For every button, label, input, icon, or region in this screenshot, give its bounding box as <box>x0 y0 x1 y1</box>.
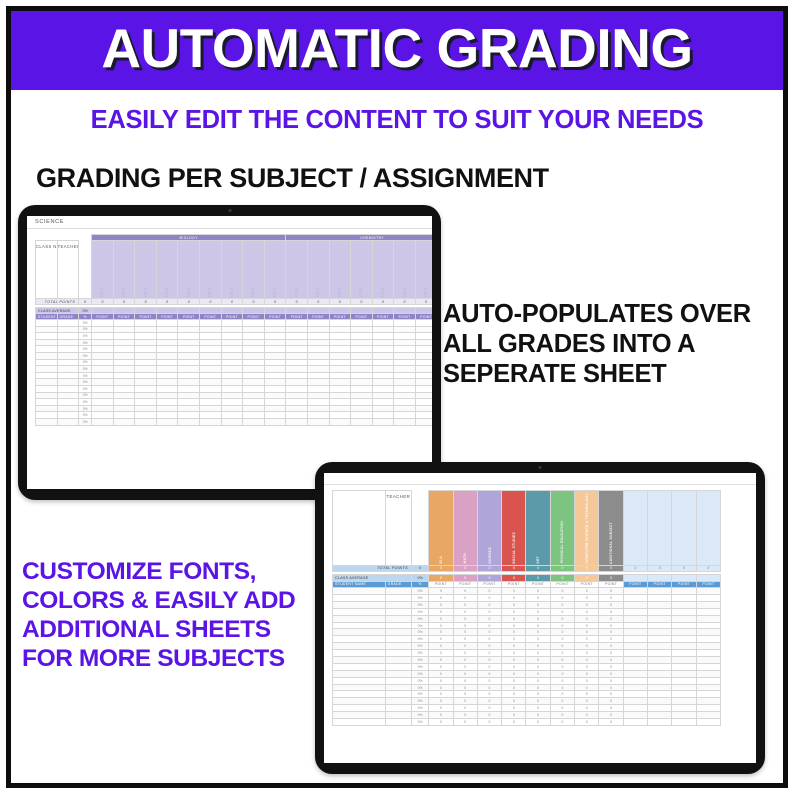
point-cell[interactable] <box>92 379 114 386</box>
subject-column-additional-subject[interactable]: ADDITIONAL SUBJECT <box>599 491 623 566</box>
point-cell[interactable]: 0 <box>429 684 453 691</box>
student-name-cell[interactable] <box>36 333 58 340</box>
point-cell[interactable] <box>264 399 286 406</box>
point-cell[interactable] <box>329 392 351 399</box>
point-cell-extra[interactable] <box>648 691 672 698</box>
point-cell-extra[interactable] <box>696 691 720 698</box>
point-cell[interactable]: 0 <box>599 677 623 684</box>
point-cell[interactable]: 0 <box>453 588 477 595</box>
point-cell[interactable]: 0 <box>429 691 453 698</box>
point-cell-extra[interactable] <box>696 588 720 595</box>
point-cell-extra[interactable] <box>623 650 647 657</box>
point-cell[interactable]: 0 <box>526 698 550 705</box>
percent-cell[interactable]: 0% <box>79 339 92 346</box>
student-name-cell[interactable] <box>333 705 386 712</box>
point-cell-extra[interactable] <box>623 677 647 684</box>
point-cell[interactable]: 0 <box>453 684 477 691</box>
point-cell[interactable]: 0 <box>429 595 453 602</box>
point-cell[interactable]: 0 <box>599 588 623 595</box>
point-cell[interactable]: 0 <box>477 595 501 602</box>
point-cell[interactable]: 0 <box>477 629 501 636</box>
point-cell-extra[interactable] <box>672 601 696 608</box>
point-cell[interactable] <box>113 405 135 412</box>
point-cell[interactable]: 0 <box>502 684 526 691</box>
point-cell[interactable] <box>307 412 329 419</box>
point-cell-extra[interactable] <box>623 636 647 643</box>
assignment-title-cell[interactable]: TITLE <box>135 241 157 299</box>
subject-column-ela[interactable]: ELA <box>429 491 453 566</box>
point-cell[interactable]: 0 <box>477 663 501 670</box>
point-cell-extra[interactable] <box>672 588 696 595</box>
point-cell-extra[interactable] <box>672 719 696 726</box>
point-cell-extra[interactable] <box>623 705 647 712</box>
point-cell[interactable]: 0 <box>526 663 550 670</box>
point-cell[interactable]: 0 <box>575 636 599 643</box>
point-cell[interactable]: 0 <box>599 691 623 698</box>
point-cell[interactable]: 0 <box>575 698 599 705</box>
point-cell[interactable] <box>92 366 114 373</box>
percent-cell[interactable]: 0% <box>412 629 429 636</box>
point-cell[interactable]: 0 <box>502 712 526 719</box>
point-cell[interactable] <box>415 392 432 399</box>
point-cell[interactable] <box>394 372 416 379</box>
point-cell[interactable]: 0 <box>453 712 477 719</box>
point-cell[interactable]: 0 <box>453 657 477 664</box>
point-cell[interactable] <box>135 379 157 386</box>
subject-column-computer-science-technology[interactable]: COMPUTER SCIENCE & TECHNOLOGY <box>575 491 599 566</box>
point-cell[interactable]: 0 <box>575 705 599 712</box>
point-cell-extra[interactable] <box>623 608 647 615</box>
point-cell[interactable]: 0 <box>502 595 526 602</box>
student-name-cell[interactable] <box>333 636 386 643</box>
student-name-cell[interactable] <box>36 418 58 425</box>
extra-subject-column[interactable] <box>696 491 720 566</box>
point-cell-extra[interactable] <box>696 608 720 615</box>
point-cell-extra[interactable] <box>648 650 672 657</box>
percent-cell[interactable]: 0% <box>412 622 429 629</box>
point-cell[interactable] <box>221 366 243 373</box>
student-name-cell[interactable] <box>333 608 386 615</box>
point-cell[interactable] <box>286 392 308 399</box>
point-cell-extra[interactable] <box>623 684 647 691</box>
grade-cell[interactable] <box>57 352 79 359</box>
point-cell[interactable]: 0 <box>502 650 526 657</box>
point-cell[interactable] <box>92 346 114 353</box>
point-cell[interactable] <box>351 405 373 412</box>
student-name-cell[interactable] <box>36 359 58 366</box>
point-cell[interactable]: 0 <box>575 643 599 650</box>
point-cell[interactable]: 0 <box>550 622 574 629</box>
point-cell[interactable]: 0 <box>526 643 550 650</box>
grade-cell[interactable] <box>385 657 411 664</box>
point-cell-extra[interactable] <box>696 657 720 664</box>
point-cell-extra[interactable] <box>696 663 720 670</box>
point-cell-extra[interactable] <box>672 615 696 622</box>
point-cell[interactable]: 0 <box>550 636 574 643</box>
point-cell[interactable]: 0 <box>599 670 623 677</box>
point-cell[interactable] <box>307 372 329 379</box>
point-cell[interactable] <box>113 385 135 392</box>
percent-cell[interactable]: 0% <box>412 712 429 719</box>
point-cell[interactable] <box>329 385 351 392</box>
percent-cell[interactable]: 0% <box>412 663 429 670</box>
point-cell[interactable]: 0 <box>575 670 599 677</box>
point-cell[interactable]: 0 <box>550 650 574 657</box>
point-cell[interactable] <box>394 418 416 425</box>
point-cell[interactable] <box>351 366 373 373</box>
point-cell[interactable] <box>243 326 265 333</box>
point-cell[interactable]: 0 <box>599 622 623 629</box>
grade-cell[interactable] <box>57 405 79 412</box>
point-cell[interactable]: 0 <box>599 636 623 643</box>
point-cell[interactable]: 0 <box>599 643 623 650</box>
point-cell[interactable]: 0 <box>599 608 623 615</box>
point-cell[interactable]: 0 <box>429 705 453 712</box>
extra-subject-column[interactable] <box>672 491 696 566</box>
point-cell[interactable] <box>286 418 308 425</box>
point-cell[interactable] <box>264 359 286 366</box>
point-cell[interactable] <box>286 326 308 333</box>
point-cell-extra[interactable] <box>648 670 672 677</box>
point-cell[interactable]: 0 <box>599 657 623 664</box>
point-cell[interactable]: 0 <box>550 588 574 595</box>
point-cell-extra[interactable] <box>648 698 672 705</box>
point-cell-extra[interactable] <box>623 601 647 608</box>
point-cell[interactable] <box>372 399 394 406</box>
point-cell[interactable] <box>135 405 157 412</box>
point-cell[interactable] <box>178 405 200 412</box>
student-name-cell[interactable] <box>333 615 386 622</box>
point-cell[interactable] <box>264 412 286 419</box>
point-cell[interactable] <box>135 418 157 425</box>
point-cell[interactable]: 0 <box>477 698 501 705</box>
point-cell[interactable] <box>221 326 243 333</box>
point-cell[interactable]: 0 <box>429 643 453 650</box>
point-cell[interactable] <box>156 352 178 359</box>
point-cell[interactable] <box>286 346 308 353</box>
point-cell[interactable] <box>113 392 135 399</box>
student-name-cell[interactable] <box>333 601 386 608</box>
point-cell[interactable]: 0 <box>502 691 526 698</box>
point-cell[interactable]: 0 <box>477 684 501 691</box>
point-cell[interactable]: 0 <box>550 629 574 636</box>
percent-cell[interactable]: 0% <box>412 698 429 705</box>
point-cell-extra[interactable] <box>696 622 720 629</box>
point-cell[interactable] <box>264 333 286 340</box>
point-cell[interactable] <box>221 372 243 379</box>
point-cell-extra[interactable] <box>623 588 647 595</box>
point-cell[interactable] <box>351 339 373 346</box>
student-name-cell[interactable] <box>333 684 386 691</box>
point-cell[interactable] <box>372 352 394 359</box>
point-cell[interactable] <box>156 326 178 333</box>
point-cell[interactable] <box>264 379 286 386</box>
point-cell[interactable] <box>156 359 178 366</box>
point-cell[interactable]: 0 <box>477 670 501 677</box>
point-cell[interactable] <box>243 385 265 392</box>
point-cell[interactable] <box>178 352 200 359</box>
point-cell[interactable] <box>264 372 286 379</box>
point-cell[interactable] <box>329 418 351 425</box>
point-cell[interactable]: 0 <box>575 588 599 595</box>
percent-cell[interactable]: 0% <box>412 650 429 657</box>
point-cell[interactable]: 0 <box>575 601 599 608</box>
grade-cell[interactable] <box>57 320 79 327</box>
point-cell[interactable]: 0 <box>550 615 574 622</box>
point-cell[interactable] <box>156 333 178 340</box>
point-cell[interactable] <box>92 372 114 379</box>
student-name-cell[interactable] <box>333 677 386 684</box>
point-cell-extra[interactable] <box>648 636 672 643</box>
point-cell[interactable] <box>113 339 135 346</box>
student-name-cell[interactable] <box>333 657 386 664</box>
point-cell-extra[interactable] <box>696 595 720 602</box>
point-cell[interactable]: 0 <box>429 657 453 664</box>
point-cell[interactable] <box>135 366 157 373</box>
point-cell[interactable]: 0 <box>526 615 550 622</box>
point-cell-extra[interactable] <box>672 705 696 712</box>
point-cell[interactable]: 0 <box>550 663 574 670</box>
point-cell[interactable] <box>394 385 416 392</box>
point-cell[interactable] <box>307 399 329 406</box>
point-cell-extra[interactable] <box>648 657 672 664</box>
point-cell-extra[interactable] <box>696 601 720 608</box>
point-cell[interactable] <box>372 418 394 425</box>
point-cell[interactable]: 0 <box>526 712 550 719</box>
point-cell[interactable]: 0 <box>502 705 526 712</box>
point-cell[interactable] <box>351 326 373 333</box>
percent-cell[interactable]: 0% <box>79 333 92 340</box>
point-cell[interactable]: 0 <box>453 677 477 684</box>
point-cell[interactable] <box>92 399 114 406</box>
student-name-cell[interactable] <box>333 650 386 657</box>
point-cell[interactable] <box>372 320 394 327</box>
point-cell[interactable] <box>156 385 178 392</box>
assignment-title-cell[interactable]: TITLE <box>351 241 373 299</box>
point-cell[interactable] <box>178 339 200 346</box>
student-name-cell[interactable] <box>333 712 386 719</box>
student-name-cell[interactable] <box>333 595 386 602</box>
point-cell[interactable] <box>286 379 308 386</box>
point-cell[interactable]: 0 <box>477 601 501 608</box>
point-cell[interactable] <box>135 320 157 327</box>
point-cell[interactable]: 0 <box>453 670 477 677</box>
percent-cell[interactable]: 0% <box>412 595 429 602</box>
point-cell[interactable]: 0 <box>502 719 526 726</box>
point-cell[interactable]: 0 <box>599 595 623 602</box>
percent-cell[interactable]: 0% <box>79 346 92 353</box>
point-cell[interactable] <box>200 333 222 340</box>
point-cell[interactable] <box>135 412 157 419</box>
point-cell[interactable] <box>415 352 432 359</box>
assignment-title-cell[interactable]: TITLE <box>264 241 286 299</box>
grade-cell[interactable] <box>385 608 411 615</box>
assignment-title-cell[interactable]: TITLE <box>113 241 135 299</box>
point-cell[interactable]: 0 <box>526 670 550 677</box>
point-cell[interactable]: 0 <box>550 595 574 602</box>
student-name-cell[interactable] <box>36 392 58 399</box>
point-cell[interactable]: 0 <box>502 670 526 677</box>
grade-cell[interactable] <box>385 712 411 719</box>
student-name-cell[interactable] <box>333 719 386 726</box>
point-cell[interactable] <box>351 372 373 379</box>
point-cell[interactable] <box>329 412 351 419</box>
point-cell[interactable] <box>415 399 432 406</box>
point-cell-extra[interactable] <box>696 650 720 657</box>
point-cell[interactable] <box>200 418 222 425</box>
point-cell[interactable]: 0 <box>575 629 599 636</box>
point-cell-extra[interactable] <box>672 677 696 684</box>
point-cell-extra[interactable] <box>648 601 672 608</box>
point-cell[interactable] <box>156 379 178 386</box>
point-cell[interactable]: 0 <box>575 663 599 670</box>
point-cell[interactable] <box>113 418 135 425</box>
point-cell[interactable] <box>372 372 394 379</box>
point-cell[interactable] <box>307 405 329 412</box>
point-cell-extra[interactable] <box>696 719 720 726</box>
point-cell[interactable] <box>351 399 373 406</box>
percent-cell[interactable]: 0% <box>79 385 92 392</box>
point-cell[interactable] <box>178 359 200 366</box>
assignment-title-cell[interactable]: TITLE <box>394 241 416 299</box>
point-cell[interactable] <box>200 412 222 419</box>
point-cell[interactable] <box>200 372 222 379</box>
point-cell-extra[interactable] <box>672 595 696 602</box>
point-cell-extra[interactable] <box>672 663 696 670</box>
assignment-title-cell[interactable]: TITLE <box>415 241 432 299</box>
point-cell[interactable]: 0 <box>502 615 526 622</box>
point-cell-extra[interactable] <box>648 588 672 595</box>
grade-cell[interactable] <box>385 629 411 636</box>
assignment-title-cell[interactable]: TITLE <box>329 241 351 299</box>
point-cell-extra[interactable] <box>623 691 647 698</box>
point-cell[interactable]: 0 <box>575 650 599 657</box>
percent-cell[interactable]: 0% <box>79 359 92 366</box>
point-cell[interactable] <box>221 418 243 425</box>
grade-cell[interactable] <box>385 670 411 677</box>
point-cell[interactable] <box>200 366 222 373</box>
point-cell[interactable] <box>243 366 265 373</box>
point-cell[interactable]: 0 <box>599 629 623 636</box>
point-cell[interactable] <box>221 392 243 399</box>
point-cell[interactable]: 0 <box>477 643 501 650</box>
point-cell[interactable]: 0 <box>429 719 453 726</box>
point-cell[interactable]: 0 <box>526 601 550 608</box>
percent-cell[interactable]: 0% <box>412 719 429 726</box>
point-cell[interactable]: 0 <box>575 712 599 719</box>
percent-cell[interactable]: 0% <box>412 691 429 698</box>
point-cell[interactable]: 0 <box>453 663 477 670</box>
point-cell[interactable] <box>92 418 114 425</box>
point-cell[interactable] <box>92 412 114 419</box>
point-cell[interactable] <box>351 352 373 359</box>
extra-subject-column[interactable] <box>623 491 647 566</box>
point-cell[interactable] <box>351 379 373 386</box>
point-cell[interactable] <box>113 346 135 353</box>
point-cell[interactable] <box>200 405 222 412</box>
point-cell[interactable] <box>221 385 243 392</box>
point-cell[interactable] <box>394 339 416 346</box>
point-cell[interactable]: 0 <box>502 608 526 615</box>
percent-cell[interactable]: 0% <box>412 636 429 643</box>
subject-column-physical-education[interactable]: PHYSICAL EDUCATION <box>550 491 574 566</box>
point-cell[interactable]: 0 <box>526 608 550 615</box>
percent-cell[interactable]: 0% <box>79 352 92 359</box>
percent-cell[interactable]: 0% <box>79 405 92 412</box>
point-cell[interactable] <box>243 399 265 406</box>
percent-cell[interactable]: 0% <box>79 379 92 386</box>
point-cell[interactable] <box>200 339 222 346</box>
grade-cell[interactable] <box>57 359 79 366</box>
point-cell[interactable] <box>329 352 351 359</box>
point-cell[interactable] <box>329 339 351 346</box>
point-cell[interactable]: 0 <box>453 698 477 705</box>
student-name-cell[interactable] <box>36 379 58 386</box>
point-cell[interactable] <box>307 346 329 353</box>
point-cell[interactable] <box>113 412 135 419</box>
point-cell-extra[interactable] <box>623 629 647 636</box>
percent-cell[interactable]: 0% <box>79 392 92 399</box>
point-cell[interactable]: 0 <box>477 588 501 595</box>
point-cell-extra[interactable] <box>648 719 672 726</box>
point-cell-extra[interactable] <box>648 595 672 602</box>
point-cell[interactable] <box>221 333 243 340</box>
point-cell[interactable]: 0 <box>477 705 501 712</box>
grade-cell[interactable] <box>385 698 411 705</box>
point-cell[interactable] <box>372 346 394 353</box>
point-cell[interactable] <box>178 320 200 327</box>
point-cell-extra[interactable] <box>623 615 647 622</box>
point-cell[interactable] <box>243 346 265 353</box>
point-cell-extra[interactable] <box>648 608 672 615</box>
point-cell[interactable] <box>113 352 135 359</box>
student-name-cell[interactable] <box>36 372 58 379</box>
point-cell[interactable] <box>372 412 394 419</box>
point-cell[interactable] <box>307 379 329 386</box>
point-cell[interactable] <box>264 392 286 399</box>
percent-cell[interactable]: 0% <box>412 670 429 677</box>
point-cell[interactable]: 0 <box>429 636 453 643</box>
point-cell[interactable] <box>156 392 178 399</box>
point-cell[interactable]: 0 <box>575 719 599 726</box>
point-cell[interactable] <box>329 346 351 353</box>
point-cell[interactable]: 0 <box>502 636 526 643</box>
point-cell[interactable] <box>243 339 265 346</box>
point-cell[interactable] <box>178 366 200 373</box>
point-cell[interactable]: 0 <box>526 636 550 643</box>
point-cell[interactable] <box>264 405 286 412</box>
point-cell[interactable] <box>264 418 286 425</box>
point-cell[interactable] <box>415 385 432 392</box>
point-cell[interactable] <box>135 359 157 366</box>
point-cell[interactable] <box>307 352 329 359</box>
point-cell[interactable] <box>329 333 351 340</box>
point-cell-extra[interactable] <box>672 608 696 615</box>
point-cell-extra[interactable] <box>648 643 672 650</box>
student-name-cell[interactable] <box>333 670 386 677</box>
grade-cell[interactable] <box>57 372 79 379</box>
point-cell[interactable]: 0 <box>575 677 599 684</box>
point-cell[interactable] <box>113 359 135 366</box>
grade-cell[interactable] <box>385 691 411 698</box>
point-cell[interactable] <box>351 346 373 353</box>
point-cell[interactable] <box>286 320 308 327</box>
point-cell[interactable] <box>113 333 135 340</box>
point-cell[interactable]: 0 <box>599 663 623 670</box>
point-cell[interactable]: 0 <box>550 684 574 691</box>
point-cell[interactable] <box>200 392 222 399</box>
point-cell[interactable] <box>264 352 286 359</box>
